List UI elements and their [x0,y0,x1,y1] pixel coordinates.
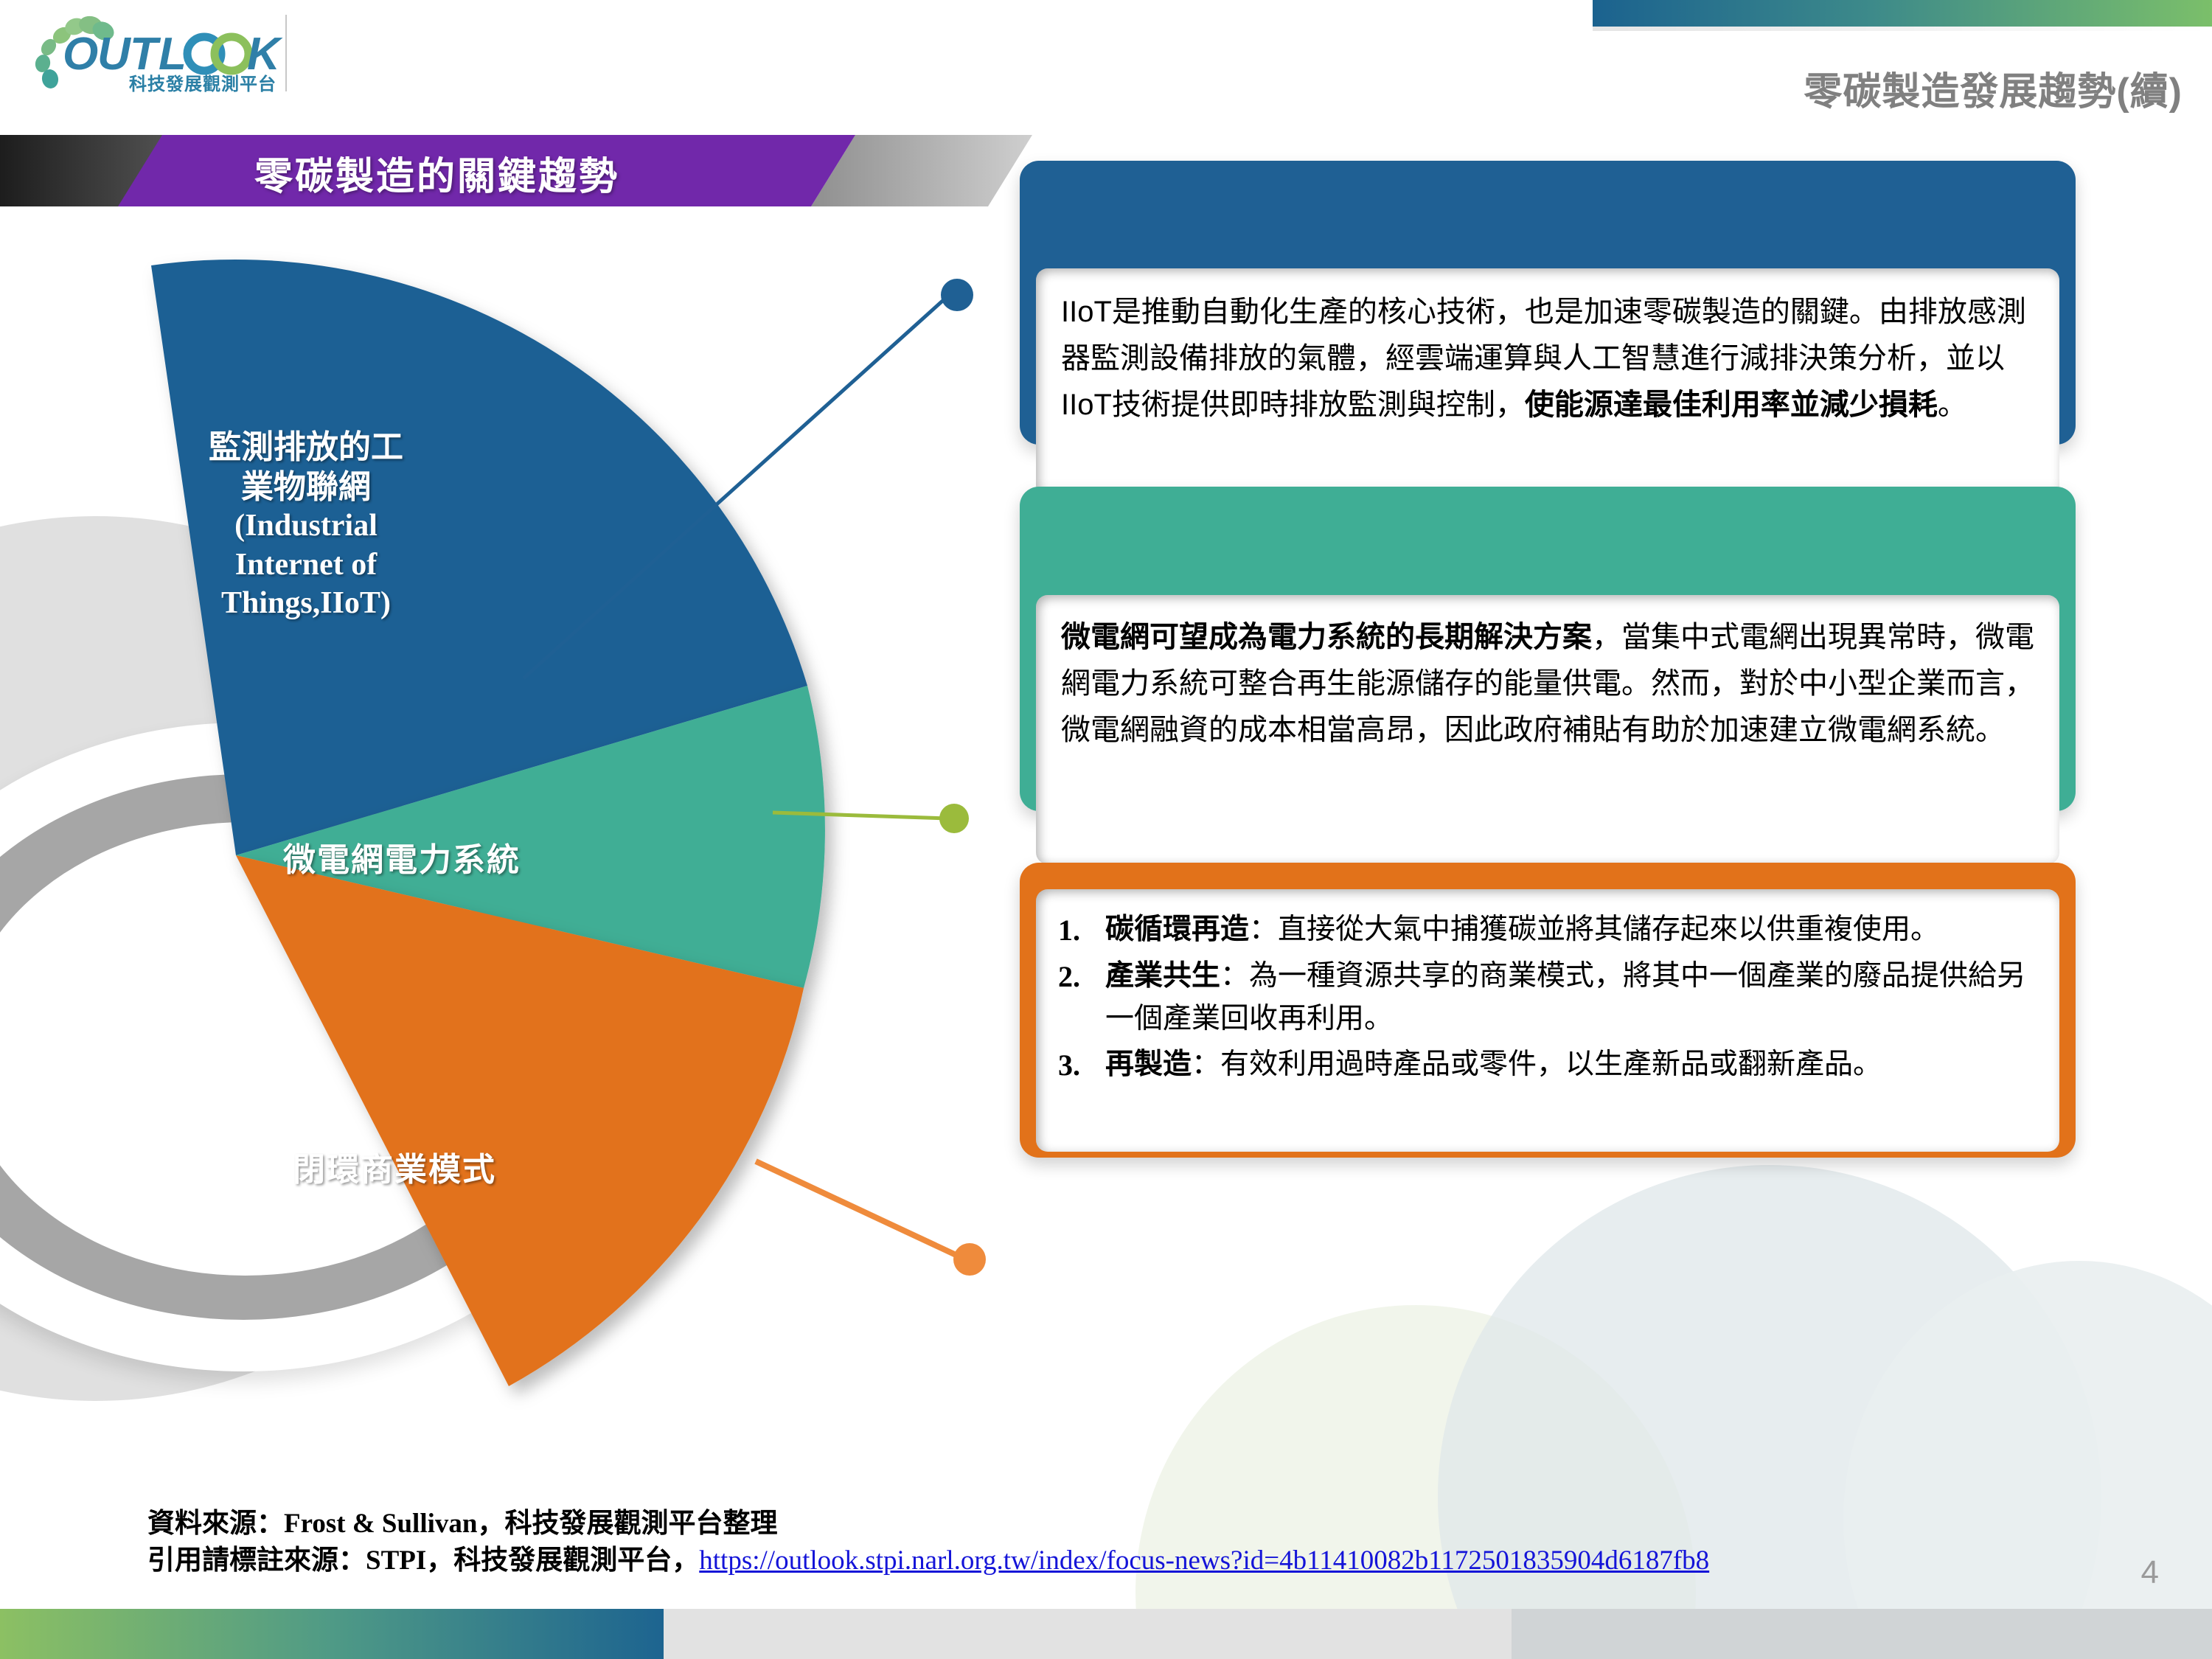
footer-source-value: Frost & Sullivan [284,1509,477,1539]
bottom-bar-gray-dark [1512,1609,2212,1659]
svg-text:L: L [159,29,187,80]
wedge-label-iiot-en3: Things,IIoT) [147,584,465,623]
wedge-label-iiot-line2: 業物聯網 [241,469,371,505]
list-item-body: 碳循環再造：直接從大氣中捕獲碳並將其儲存起來以供重複使用。 [1105,908,2037,951]
footer-source-line: 資料來源：Frost & Sullivan，科技發展觀測平台整理 [147,1505,2065,1543]
wedge-label-closed-loop: 閉環商業模式 [236,1150,553,1190]
list-item-term: 碳循環再造 [1105,914,1249,945]
list-item: 1. 碳循環再造：直接從大氣中捕獲碳並將其儲存起來以供重複使用。 [1058,908,2037,952]
bottom-bar [0,1609,2212,1659]
connector-dot-microgrid [939,804,969,833]
page-title: 零碳製造發展趨勢(續) [1804,60,2183,116]
section-banner: 零碳製造的關鍵趨勢 [0,135,1032,206]
wedge-label-iiot: 監測排放的工 業物聯網 (Industrial Internet of Thin… [147,428,465,623]
footer-cite-suffix: ，科技發展觀測平台， [426,1545,699,1575]
top-gradient-bar-shadow [1593,27,2212,31]
banner-title: 零碳製造的關鍵趨勢 [254,145,619,201]
connector-dot-iiot [941,279,973,311]
content-card-microgrid-body: 微電網可望成為電力系統的長期解決方案，當集中式電網出現異常時，微電網電力系統可整… [1036,595,2059,864]
list-item-number: 3. [1058,1043,1105,1087]
footer-source-label: 資料來源： [147,1508,284,1538]
wedge-label-microgrid: 微電網電力系統 [243,841,560,880]
list-item: 2. 產業共生：為一種資源共享的商業模式，將其中一個產業的廢品提供給另一個產業回… [1058,955,2037,1040]
footer-cite-line: 引用請標註來源：STPI，科技發展觀測平台，https://outlook.st… [147,1542,2065,1579]
microgrid-text-bold: 微電網可望成為電力系統的長期解決方案 [1061,621,1592,653]
list-item-number: 2. [1058,955,1105,998]
top-gradient-bar [1593,0,2212,27]
closed-loop-list: 1. 碳循環再造：直接從大氣中捕獲碳並將其儲存起來以供重複使用。 2. 產業共生… [1058,908,2037,1087]
page-number: 4 [2141,1554,2159,1591]
list-item-desc: ：為一種資源共享的商業模式，將其中一個產業的廢品提供給另一個產業回收再利用。 [1105,960,2025,1034]
iiot-text-part2: 。 [1938,389,1967,421]
list-item-term: 再製造 [1105,1048,1192,1080]
svg-text:U: U [97,29,132,80]
content-card-closed-loop-body: 1. 碳循環再造：直接從大氣中捕獲碳並將其儲存起來以供重複使用。 2. 產業共生… [1036,889,2059,1152]
content-card-closed-loop: 1. 碳循環再造：直接從大氣中捕獲碳並將其儲存起來以供重複使用。 2. 產業共生… [1020,863,2076,1158]
list-item-desc: ：直接從大氣中捕獲碳並將其儲存起來以供重複使用。 [1249,914,1939,945]
logo-wordmark: O U T L K [63,29,283,80]
list-item-body: 產業共生：為一種資源共享的商業模式，將其中一個產業的廢品提供給另一個產業回收再利… [1105,955,2037,1040]
trend-wedge-diagram: 監測排放的工 業物聯網 (Industrial Internet of Thin… [0,280,855,1430]
svg-text:K: K [247,29,283,80]
footer-cite-value: STPI [366,1545,426,1576]
wedge-label-iiot-line1: 監測排放的工 [209,429,403,465]
outlook-logo: O U T L K 科技發展觀測平台 [21,9,293,96]
list-item-desc: ：有效利用過時產品或零件，以生產新品或翻新產品。 [1192,1048,1882,1080]
footer: 資料來源：Frost & Sullivan，科技發展觀測平台整理 引用請標註來源… [147,1505,2065,1579]
logo-subtext: 科技發展觀測平台 [129,74,276,94]
footer-source-suffix: ，科技發展觀測平台整理 [477,1508,777,1538]
list-item-term: 產業共生 [1105,960,1220,992]
wedge-label-iiot-en2: Internet of [147,546,465,585]
wedge-label-iiot-en1: (Industrial [147,507,465,546]
bottom-bar-gray-light [664,1609,1512,1659]
footer-cite-label: 引用請標註來源： [147,1545,366,1575]
list-item-number: 1. [1058,908,1105,952]
content-card-microgrid-text: 微電網可望成為電力系統的長期解決方案，當集中式電網出現異常時，微電網電力系統可整… [1061,614,2034,754]
content-card-iiot-body: IIoT是推動自動化生產的核心技術，也是加速零碳製造的關鍵。由排放感測器監測設備… [1036,268,2059,497]
slide-canvas: O U T L K 科技發展觀測平台 零碳製造發展趨勢(續) 零碳製造的關鍵趨勢 [0,0,2212,1659]
list-item-body: 再製造：有效利用過時產品或零件，以生產新品或翻新產品。 [1105,1043,2037,1086]
content-card-microgrid: 微電網可望成為電力系統的長期解決方案，當集中式電網出現異常時，微電網電力系統可整… [1020,487,2076,811]
svg-text:T: T [130,29,161,80]
footer-source-link[interactable]: https://outlook.stpi.narl.org.tw/index/f… [699,1545,1709,1576]
content-card-iiot-text: IIoT是推動自動化生產的核心技術，也是加速零碳製造的關鍵。由排放感測器監測設備… [1061,289,2034,429]
svg-text:O: O [63,29,98,80]
content-card-iiot: IIoT是推動自動化生產的核心技術，也是加速零碳製造的關鍵。由排放感測器監測設備… [1020,161,2076,445]
connector-dot-closed-loop [953,1243,986,1276]
list-item: 3. 再製造：有效利用過時產品或零件，以生產新品或翻新產品。 [1058,1043,2037,1087]
iiot-text-bold: 使能源達最佳利用率並減少損耗 [1525,389,1938,421]
bottom-bar-gradient [0,1609,664,1659]
